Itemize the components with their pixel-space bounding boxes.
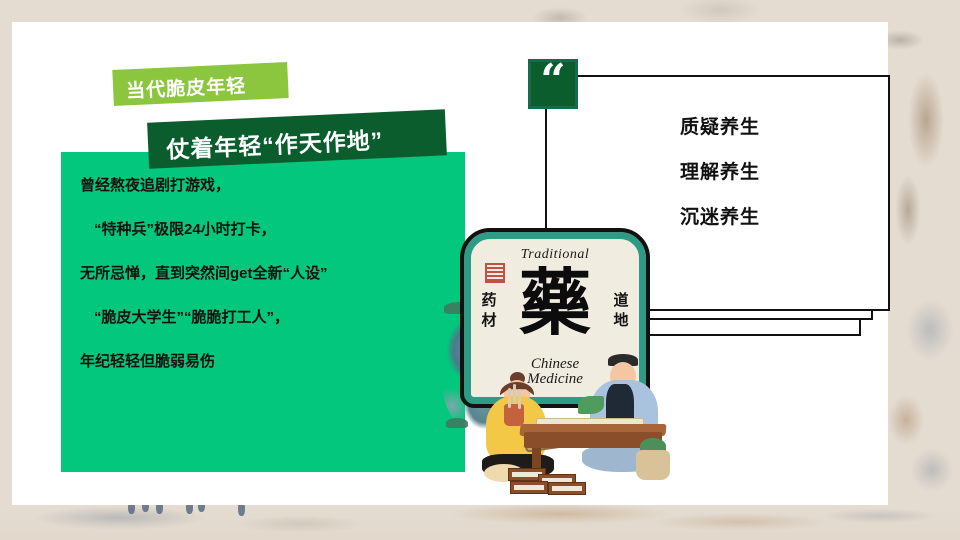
- eyebrow-label: 当代脆皮年轻: [126, 71, 247, 103]
- medicine-brick-group: [508, 468, 590, 494]
- body-line-1: 曾经熬夜追剧打游戏，: [80, 178, 460, 193]
- herb-sack-shape: [636, 450, 670, 480]
- plaque-side-left-label: 药材: [479, 291, 499, 331]
- pine-branch-icon: [446, 418, 468, 428]
- quote-line-3: 沉迷养生: [620, 208, 820, 227]
- body-line-4: “脆皮大学生”“脆脆打工人”，: [80, 310, 460, 325]
- body-line-3: 无所忌惮，直到突然间get全新“人设”: [80, 266, 460, 281]
- tcm-illustration: Traditional 药材 道地 藥 Chinese Medicine: [440, 232, 686, 495]
- brush-pot-shape: [504, 404, 524, 426]
- quote-mark-badge: “: [528, 59, 578, 109]
- quote-line-1: 质疑养生: [620, 118, 820, 137]
- medicine-brick: [510, 481, 548, 494]
- body-line-5: 年纪轻轻但脆弱易伤: [80, 354, 460, 369]
- ink-wash-right-decoration: [886, 0, 960, 540]
- page-title: 仗着年轻“作天作地”: [165, 121, 383, 165]
- body-line-2: “特种兵”极限24小时打卡，: [80, 222, 460, 237]
- slide-root: 曾经熬夜追剧打游戏， “特种兵”极限24小时打卡， 无所忌惮，直到突然间get全…: [0, 0, 960, 540]
- quote-mark-icon: “: [540, 64, 565, 98]
- plaque-main-character: 藥: [519, 267, 591, 339]
- medicine-brick: [548, 482, 586, 495]
- seal-stamp-icon: [485, 263, 505, 283]
- brush-icon: [513, 384, 516, 404]
- herb-leaf-icon: [578, 396, 604, 414]
- body-text-group: 曾经熬夜追剧打游戏， “特种兵”极限24小时打卡， 无所忌惮，直到突然间get全…: [80, 178, 460, 398]
- plaque-side-right-label: 道地: [611, 291, 631, 331]
- quote-line-2: 理解养生: [620, 163, 820, 182]
- brush-icon: [508, 388, 511, 408]
- brush-icon: [518, 389, 521, 409]
